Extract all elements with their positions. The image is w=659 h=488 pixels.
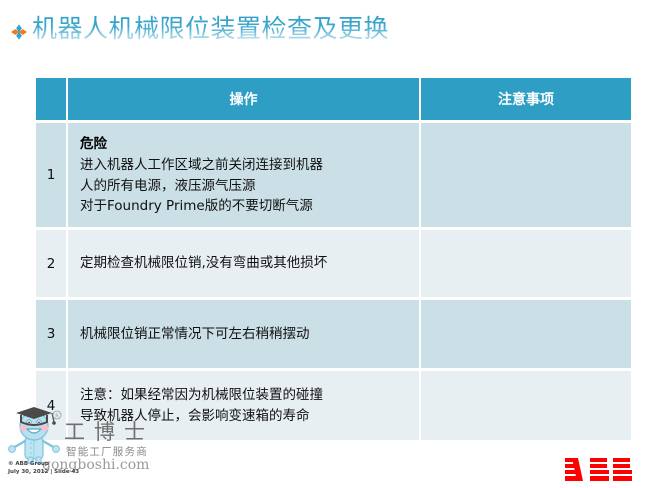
copyright-line: © ABB Group	[8, 460, 79, 468]
procedure-table: 操作 注意事项 1 危险 进入机器人工作区域之前关闭连接到机器 人的所有电源，液…	[36, 78, 631, 443]
row-notes	[421, 230, 631, 300]
row-number: 2	[36, 230, 68, 300]
svg-text:R: R	[55, 413, 59, 419]
column-header-notes: 注意事项	[421, 78, 631, 123]
registered-trademark-icon: R	[52, 410, 62, 420]
abb-logo	[565, 458, 637, 482]
gongboshi-wordmark: 工博士	[64, 416, 154, 446]
operation-line: 对于Foundry Prime版的不要切断气源	[80, 196, 411, 216]
slide-footer-note: © ABB Group July 30, 2012 | Slide 43	[8, 460, 79, 477]
row-operation: 机械限位销正常情况下可左右稍稍摆动	[68, 300, 421, 371]
row-notes	[421, 300, 631, 371]
row-notes	[421, 371, 631, 443]
danger-label: 危险	[80, 134, 411, 154]
row-notes	[421, 123, 631, 230]
date-slide-line: July 30, 2012 | Slide 43	[8, 468, 79, 476]
operation-line: 进入机器人工作区域之前关闭连接到机器	[80, 155, 411, 175]
page-title-text: 机器人机械限位装置检查及更换	[32, 15, 389, 43]
operation-line: 定期检查机械限位销,没有弯曲或其他损坏	[80, 253, 411, 273]
table-header-row: 操作 注意事项	[36, 78, 631, 123]
row-number: 1	[36, 123, 68, 230]
column-header-operation: 操作	[68, 78, 421, 123]
operation-line: 人的所有电源，液压源气压源	[80, 176, 411, 196]
row-number: 3	[36, 300, 68, 371]
page-title: 机器人机械限位装置检查及更换	[10, 15, 389, 43]
table-row: 1 危险 进入机器人工作区域之前关闭连接到机器 人的所有电源，液压源气压源 对于…	[36, 123, 631, 230]
column-header-number	[36, 78, 68, 123]
four-diamond-bullet-icon	[10, 23, 28, 41]
operation-line: 机械限位销正常情况下可左右稍稍摆动	[80, 324, 411, 344]
row-operation: 定期检查机械限位销,没有弯曲或其他损坏	[68, 230, 421, 300]
row-operation: 危险 进入机器人工作区域之前关闭连接到机器 人的所有电源，液压源气压源 对于Fo…	[68, 123, 421, 230]
operation-line: 注意：如果经常因为机械限位装置的碰撞	[80, 385, 411, 405]
table-row: 2 定期检查机械限位销,没有弯曲或其他损坏	[36, 230, 631, 300]
table-row: 3 机械限位销正常情况下可左右稍稍摆动	[36, 300, 631, 371]
